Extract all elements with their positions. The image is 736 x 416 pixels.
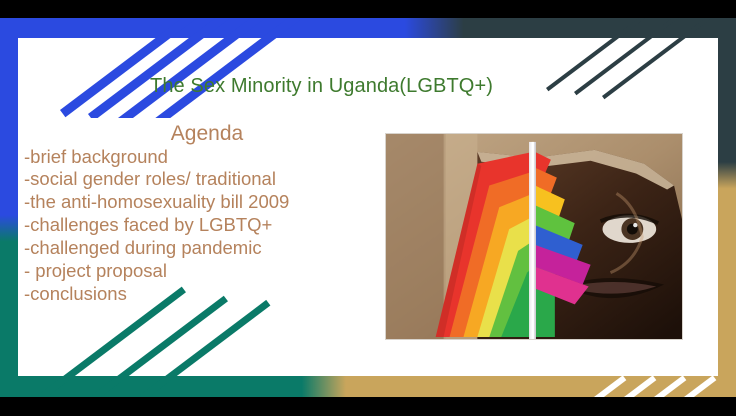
agenda-item: -challenges faced by LGBTQ+ [24, 214, 378, 237]
agenda-item: -challenged during pandemic [24, 237, 378, 260]
letterbox-bar-top [0, 0, 736, 18]
agenda-item: -the anti-homosexuality bill 2009 [24, 191, 378, 214]
border-band-top [0, 18, 736, 38]
border-band-bottom [0, 376, 736, 397]
presentation-viewer: The Sex Minority in Uganda(LGBTQ+) Agend… [0, 0, 736, 416]
pride-flag-portrait-photo [385, 133, 683, 340]
agenda-item: -social gender roles/ traditional [24, 168, 378, 191]
agenda-item: - project proposal [24, 260, 378, 283]
letterbox-bar-bottom [0, 397, 736, 416]
agenda-block: Agenda -brief background -social gender … [18, 122, 378, 305]
photo-artwork [386, 134, 682, 339]
agenda-list: -brief background -social gender roles/ … [18, 146, 378, 306]
border-band-right [718, 18, 736, 397]
agenda-item: -conclusions [24, 283, 378, 306]
border-band-left [0, 18, 18, 397]
agenda-item: -brief background [24, 146, 378, 169]
slide-title: The Sex Minority in Uganda(LGBTQ+) [150, 75, 590, 98]
slide: The Sex Minority in Uganda(LGBTQ+) Agend… [0, 18, 736, 397]
agenda-heading: Agenda [18, 122, 378, 146]
